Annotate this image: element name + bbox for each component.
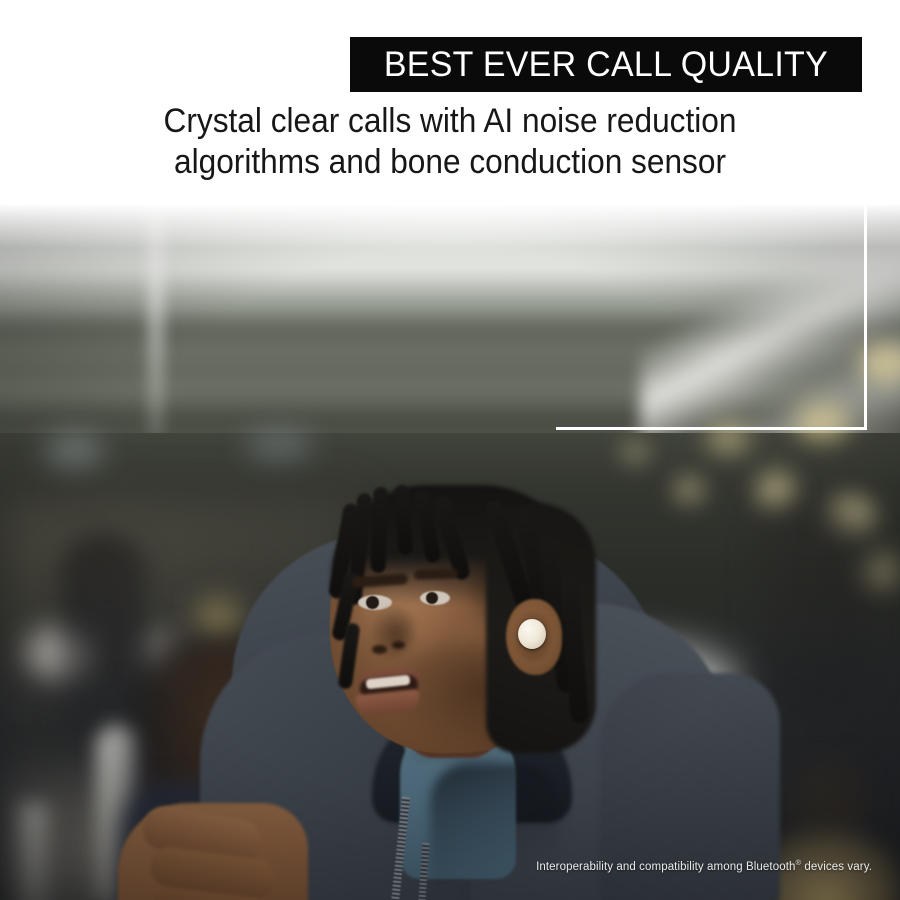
wireless-earbud	[518, 619, 546, 649]
feature-card: BEST EVER CALL QUALITY Crystal clear cal…	[0, 0, 900, 900]
title-banner: BEST EVER CALL QUALITY	[350, 37, 862, 92]
subtitle-block: Crystal clear calls with AI noise reduct…	[32, 101, 869, 183]
nostril	[372, 645, 387, 654]
bokeh-light	[672, 475, 706, 505]
jacket-lapel-shadow	[430, 763, 560, 900]
dreadlock	[371, 487, 389, 573]
background-person-right	[760, 503, 870, 713]
background-person-fur-head	[792, 759, 866, 843]
banner-title-text: BEST EVER CALL QUALITY	[384, 47, 828, 82]
bokeh-light	[796, 403, 850, 441]
bokeh-light	[244, 431, 314, 459]
eyebrow-right	[414, 568, 458, 580]
vertical-pillar-blur	[148, 203, 164, 438]
subtitle-line-2: algorithms and bone conduction sensor	[32, 142, 869, 183]
hero-photo	[0, 203, 900, 900]
nostril	[392, 641, 405, 649]
disclaimer-text-after: devices vary.	[801, 861, 872, 873]
disclaimer-text-before: Interoperability and compatibility among…	[536, 861, 795, 873]
bokeh-light	[44, 433, 104, 467]
pupil-right	[426, 592, 438, 604]
header-zone: BEST EVER CALL QUALITY Crystal clear cal…	[0, 0, 900, 205]
bokeh-light	[756, 471, 796, 509]
bokeh-light	[620, 439, 650, 465]
callout-line-vertical	[864, 200, 867, 430]
legal-disclaimer: Interoperability and compatibility among…	[536, 855, 872, 875]
background-bollard-secondary	[20, 803, 48, 900]
callout-line-horizontal	[556, 427, 867, 430]
subtitle-line-1: Crystal clear calls with AI noise reduct…	[32, 101, 869, 142]
